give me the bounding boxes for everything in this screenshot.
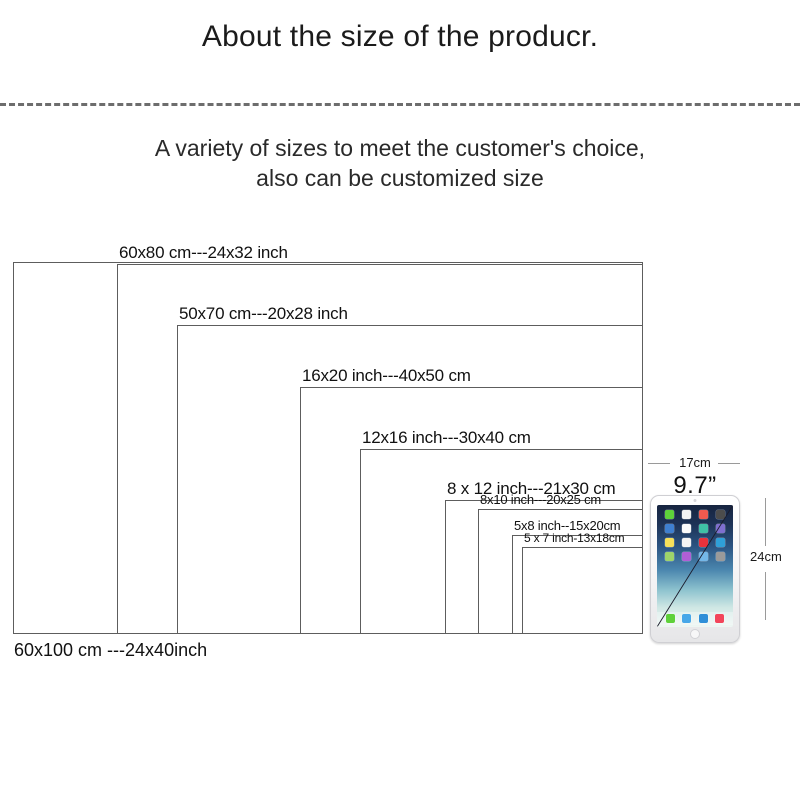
dock-icon-2: [682, 614, 691, 623]
frame-label-8x10: 8x10 inch---20x25 cm: [480, 492, 601, 507]
dock-icon-3: [699, 614, 708, 623]
frame-label-60x100: 60x100 cm ---24x40inch: [14, 640, 207, 661]
frame-label-5x7: 5 x 7 inch-13x18cm: [524, 531, 624, 545]
tablet-reference: 17cm 9.7” 24cm: [640, 450, 800, 660]
app-icon-r1c2: [682, 510, 691, 519]
app-icon-r1c3: [699, 510, 708, 519]
app-icon-r1c1: [665, 510, 674, 519]
app-icon-grid: [657, 508, 733, 561]
frame-label-12x16: 12x16 inch---30x40 cm: [362, 428, 531, 448]
app-icon-r2c4: [716, 524, 725, 533]
app-icon-r3c3: [699, 538, 708, 547]
height-measure-line-bottom: [765, 572, 766, 620]
app-dock: [657, 612, 733, 625]
tablet-width-label: 17cm: [650, 455, 740, 470]
app-icon-r2c1: [665, 524, 674, 533]
app-icon-r2c3: [699, 524, 708, 533]
size-frame-5x7: [522, 547, 643, 634]
app-icon-r1c4: [716, 510, 725, 519]
frame-label-50x70: 50x70 cm---20x28 inch: [179, 304, 348, 324]
frame-label-16x20: 16x20 inch---40x50 cm: [302, 366, 471, 386]
tablet-height-label: 24cm: [750, 549, 782, 564]
size-comparison-diagram: 60x80 cm---24x32 inch50x70 cm---20x28 in…: [0, 0, 800, 800]
size-guide-page: About the size of the producr. A variety…: [0, 0, 800, 800]
app-icon-r3c1: [665, 538, 674, 547]
tablet-device: [650, 495, 740, 643]
dock-icon-4: [715, 614, 724, 623]
app-icon-r3c4: [716, 538, 725, 547]
height-measure-line-top: [765, 498, 766, 546]
app-icon-r4c3: [699, 552, 708, 561]
app-icon-r4c2: [682, 552, 691, 561]
home-button-icon: [690, 629, 700, 639]
app-icon-r4c4: [716, 552, 725, 561]
dock-icon-1: [666, 614, 675, 623]
app-icon-r3c2: [682, 538, 691, 547]
tablet-screen: [657, 505, 733, 627]
frame-label-60x80: 60x80 cm---24x32 inch: [119, 243, 288, 263]
app-icon-r2c2: [682, 524, 691, 533]
app-icon-r4c1: [665, 552, 674, 561]
front-camera-icon: [694, 499, 697, 502]
